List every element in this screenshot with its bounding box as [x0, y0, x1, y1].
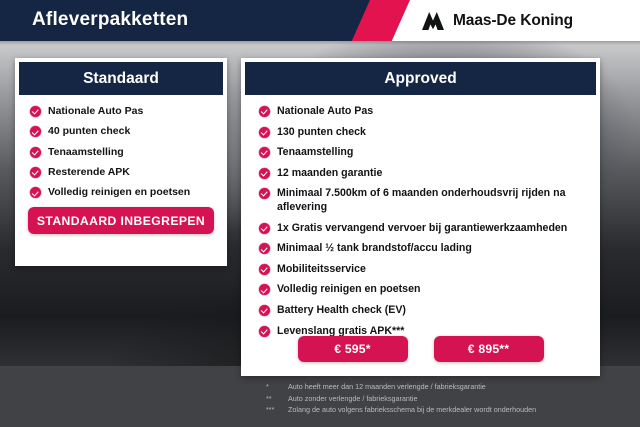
feature-label: Minimaal ½ tank brandstof/accu lading	[277, 242, 588, 256]
feature-label: Nationale Auto Pas	[48, 105, 217, 119]
card-standaard: Standaard Nationale Auto Pas 40 punten c…	[15, 58, 227, 266]
list-item: 12 maanden garantie	[259, 167, 588, 181]
check-circle-icon	[259, 147, 270, 158]
list-item: 1x Gratis vervangend vervoer bij garanti…	[259, 222, 588, 236]
check-circle-icon	[259, 284, 270, 295]
check-circle-icon	[259, 223, 270, 234]
feature-label: Volledig reinigen en poetsen	[277, 283, 588, 297]
price-button-group: € 595* € 895**	[241, 336, 600, 362]
check-circle-icon	[30, 106, 41, 117]
brand-logo: Maas-De Koning	[421, 10, 573, 32]
check-circle-icon	[30, 167, 41, 178]
check-circle-icon	[259, 264, 270, 275]
list-item: Nationale Auto Pas	[259, 105, 588, 119]
list-item: Minimaal 7.500km of 6 maanden onderhouds…	[259, 187, 588, 215]
check-circle-icon	[30, 147, 41, 158]
feature-label: Resterende APK	[48, 166, 217, 180]
check-circle-icon	[259, 127, 270, 138]
standaard-inbegrepen-button[interactable]: STANDAARD INBEGREPEN	[28, 207, 214, 234]
list-item: Mobiliteitsservice	[259, 263, 588, 277]
footnote-text: Zolang de auto volgens fabrieksschema bi…	[288, 404, 640, 416]
card-approved-body: Nationale Auto Pas 130 punten check Tena…	[241, 95, 600, 339]
check-circle-icon	[259, 168, 270, 179]
check-circle-icon	[259, 188, 270, 199]
check-circle-icon	[259, 106, 270, 117]
list-item: 40 punten check	[30, 125, 217, 139]
footnote-marker: ***	[266, 404, 288, 416]
list-item: Battery Health check (EV)	[259, 304, 588, 318]
feature-label: 1x Gratis vervangend vervoer bij garanti…	[277, 222, 588, 236]
feature-label: Minimaal 7.500km of 6 maanden onderhouds…	[277, 187, 588, 215]
list-item: 130 punten check	[259, 126, 588, 140]
footnote-text: Auto zonder verlengde / fabrieksgarantie	[288, 393, 640, 405]
feature-label: Battery Health check (EV)	[277, 304, 588, 318]
card-approved: Approved Nationale Auto Pas 130 punten c…	[241, 58, 600, 376]
feature-label: 12 maanden garantie	[277, 167, 588, 181]
list-item: Volledig reinigen en poetsen	[259, 283, 588, 297]
page-title: Afleverpakketten	[32, 9, 188, 31]
card-standaard-title: Standaard	[19, 62, 223, 95]
check-circle-icon	[259, 243, 270, 254]
feature-label: Tenaamstelling	[48, 146, 217, 160]
feature-label: 40 punten check	[48, 125, 217, 139]
list-item: Volledig reinigen en poetsen	[30, 186, 217, 200]
footnotes: * Auto heeft meer dan 12 maanden verleng…	[266, 381, 640, 416]
footnote-marker: **	[266, 393, 288, 405]
list-item: Tenaamstelling	[30, 146, 217, 160]
list-item: Nationale Auto Pas	[30, 105, 217, 119]
page-header: Afleverpakketten Maas-De Koning	[0, 0, 640, 41]
card-standaard-body: Nationale Auto Pas 40 punten check Tenaa…	[15, 95, 227, 200]
feature-label: Mobiliteitsservice	[277, 263, 588, 277]
page-root: Afleverpakketten Maas-De Koning Standaar…	[0, 0, 640, 427]
price-button-595[interactable]: € 595*	[298, 336, 408, 362]
feature-label: Tenaamstelling	[277, 146, 588, 160]
footnote-row: ** Auto zonder verlengde / fabrieksgaran…	[266, 393, 640, 405]
list-item: Tenaamstelling	[259, 146, 588, 160]
footnote-row: *** Zolang de auto volgens fabrieksschem…	[266, 404, 640, 416]
footnote-row: * Auto heeft meer dan 12 maanden verleng…	[266, 381, 640, 393]
feature-label: Volledig reinigen en poetsen	[48, 186, 217, 200]
header-shadow	[0, 41, 640, 45]
standaard-feature-list: Nationale Auto Pas 40 punten check Tenaa…	[15, 105, 227, 200]
list-item: Resterende APK	[30, 166, 217, 180]
approved-feature-list: Nationale Auto Pas 130 punten check Tena…	[241, 105, 600, 339]
list-item: Minimaal ½ tank brandstof/accu lading	[259, 242, 588, 256]
check-circle-icon	[30, 126, 41, 137]
footnote-text: Auto heeft meer dan 12 maanden verlengde…	[288, 381, 640, 393]
check-circle-icon	[30, 187, 41, 198]
check-circle-icon	[259, 326, 270, 337]
price-button-895[interactable]: € 895**	[434, 336, 544, 362]
card-approved-title: Approved	[245, 62, 596, 95]
feature-label: 130 punten check	[277, 126, 588, 140]
footnote-marker: *	[266, 381, 288, 393]
check-circle-icon	[259, 305, 270, 316]
maas-de-koning-m-mark-icon	[421, 11, 445, 31]
brand-name: Maas-De Koning	[453, 12, 573, 30]
feature-label: Nationale Auto Pas	[277, 105, 588, 119]
